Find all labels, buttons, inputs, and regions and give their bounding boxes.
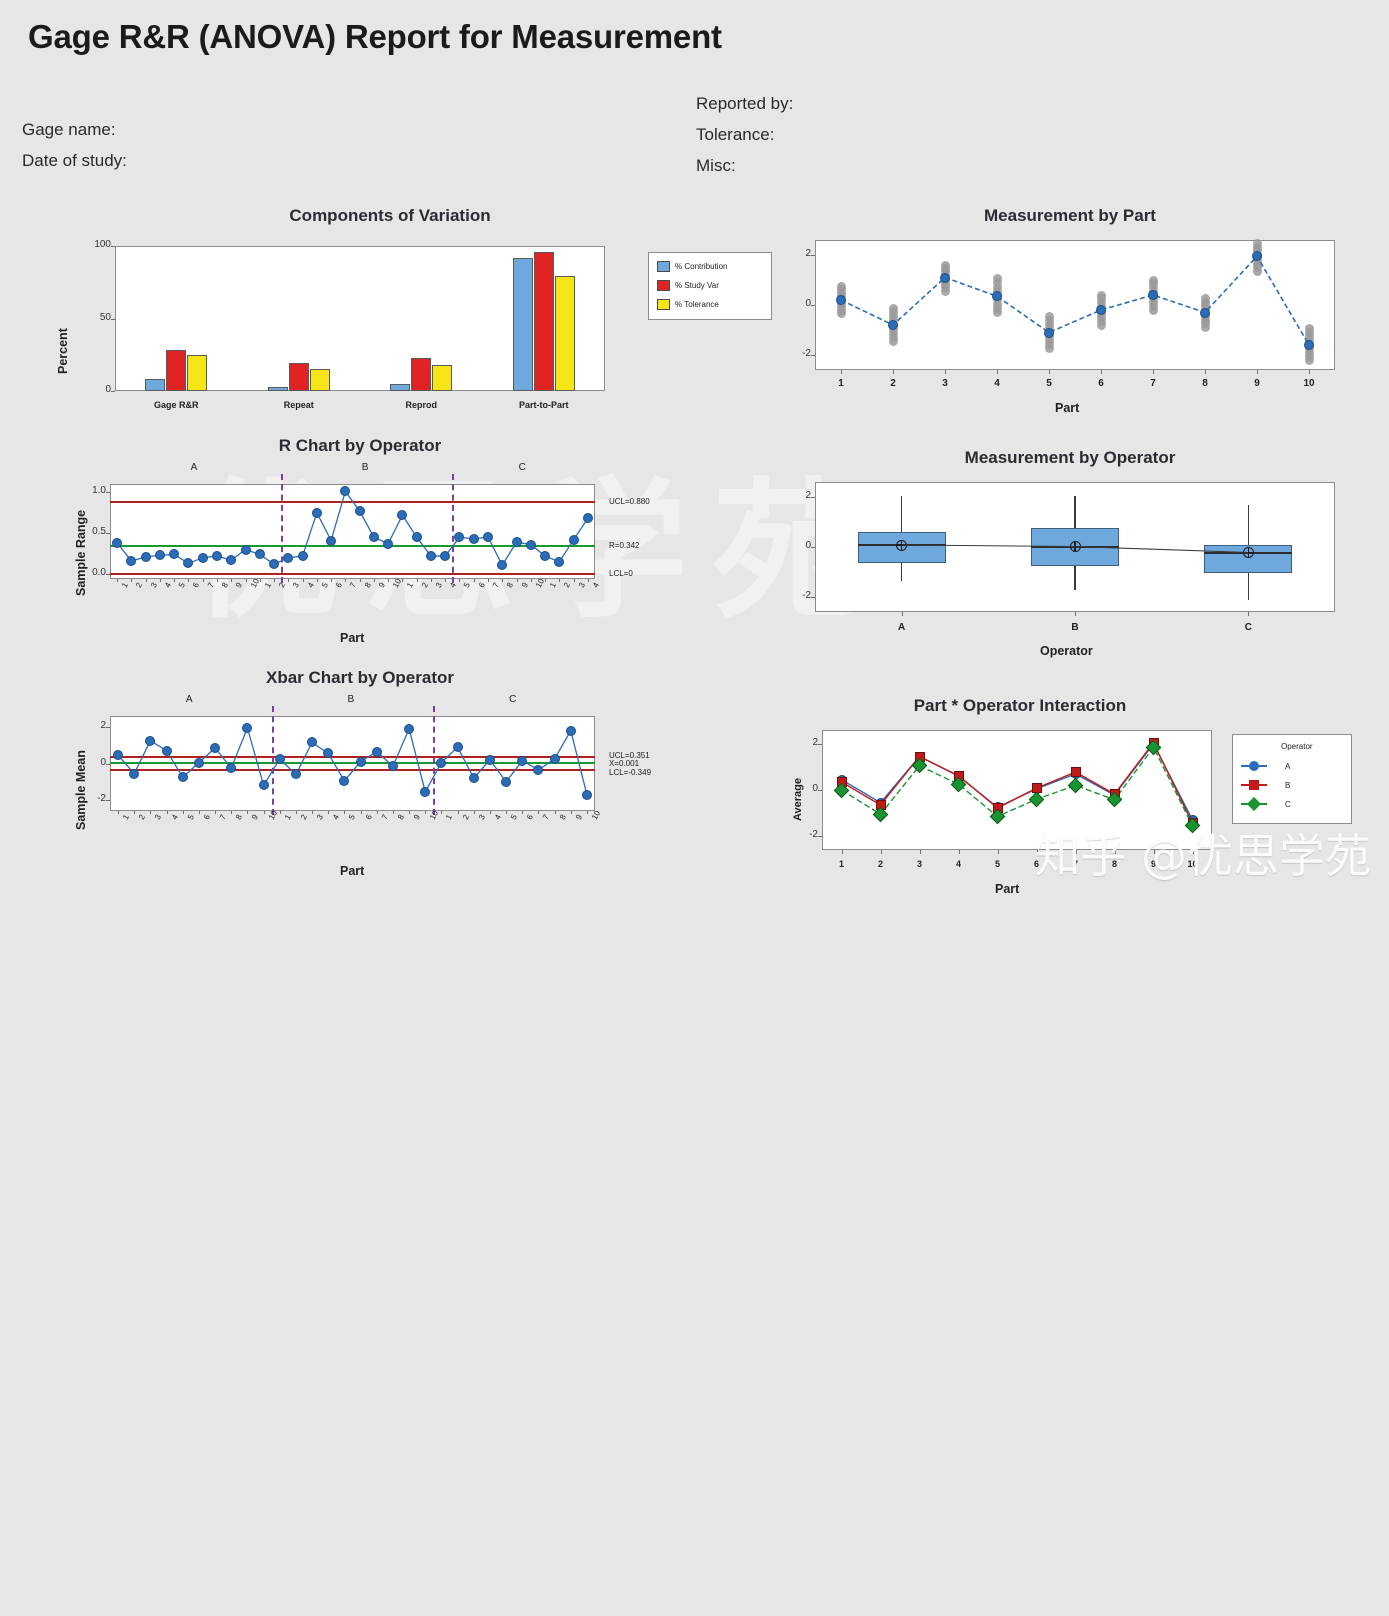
reported-by-label: Reported by:	[696, 88, 793, 119]
mean-point	[940, 273, 950, 283]
gage-name-label: Gage name:	[22, 114, 127, 145]
sample-mean-point	[550, 754, 560, 764]
x-tick-mark	[328, 811, 329, 814]
sample-mean-point	[259, 780, 269, 790]
x-axis-label: Part	[995, 882, 1019, 896]
bar-studyvar-0	[166, 350, 186, 391]
legend-item-0: % Contribution	[657, 261, 727, 272]
x-tick-label: 6	[1022, 859, 1052, 869]
x-tick-label: 4	[944, 859, 974, 869]
sample-mean-point	[162, 746, 172, 756]
x-tick-mark	[571, 811, 572, 814]
x-tick-mark	[317, 579, 318, 582]
x-tick-mark	[588, 579, 589, 582]
gage-rr-report-page: Gage R&R (ANOVA) Report for Measurement …	[0, 0, 1389, 920]
sample-mean-point	[485, 755, 495, 765]
x-tick-mark	[1115, 850, 1116, 854]
x-axis-label: Part	[340, 631, 364, 645]
bar-tolerance-1	[310, 369, 330, 391]
x-tick-mark	[117, 579, 118, 582]
x-tick-mark	[881, 850, 882, 854]
sample-range-point	[312, 508, 322, 518]
x-tick-mark	[344, 811, 345, 814]
ucl-annotation: UCL=0.880	[609, 497, 650, 507]
legend-label: % Contribution	[675, 262, 727, 271]
x-tick-mark	[131, 579, 132, 582]
bar-tolerance-2	[432, 365, 452, 391]
x-tick-mark	[231, 579, 232, 582]
x-tick-mark	[183, 811, 184, 814]
x-tick-label: 3	[905, 859, 935, 869]
sample-range-point	[469, 534, 479, 544]
legend-item-2: % Tolerance	[657, 299, 719, 310]
x-tick-label: 5	[983, 859, 1013, 869]
category-label: Repeat	[239, 400, 359, 410]
sample-range-point	[426, 551, 436, 561]
sample-range-point	[569, 535, 579, 545]
x-tick-mark	[150, 811, 151, 814]
tolerance-label: Tolerance:	[696, 119, 793, 150]
x-tick-mark	[998, 850, 999, 854]
legend-part-operator-interaction: OperatorABC	[1232, 734, 1352, 824]
x-tick-mark	[274, 579, 275, 582]
x-tick-mark	[959, 850, 960, 854]
legend-marker-C	[1247, 797, 1261, 811]
legend-swatch	[657, 299, 670, 310]
x-tick-mark	[445, 579, 446, 582]
mean-point	[1148, 290, 1158, 300]
x-tick-mark	[388, 579, 389, 582]
sample-range-point	[198, 553, 208, 563]
sample-range-point	[298, 551, 308, 561]
x-tick-mark	[260, 579, 261, 582]
y-tick-mark	[111, 319, 115, 320]
sample-mean-point	[178, 772, 188, 782]
x-tick-mark	[188, 579, 189, 582]
sample-mean-point	[469, 773, 479, 783]
x-tick-mark	[409, 811, 410, 814]
x-tick-label: 2	[866, 859, 896, 869]
x-tick-mark	[312, 811, 313, 814]
x-tick-mark	[474, 811, 475, 814]
legend-swatch	[657, 261, 670, 272]
sample-range-point	[412, 532, 422, 542]
x-tick-mark	[425, 811, 426, 814]
x-tick-mark	[842, 850, 843, 854]
sample-mean-point	[436, 758, 446, 768]
x-tick-mark	[280, 811, 281, 814]
y-tick-label: 0	[85, 384, 111, 395]
sample-mean-point	[404, 724, 414, 734]
category-label: Part-to-Part	[484, 400, 604, 410]
header-right-block: Reported by: Tolerance: Misc:	[696, 88, 793, 181]
plot-lines	[780, 696, 1389, 1616]
x-tick-mark	[490, 811, 491, 814]
legend-title: Operator	[1281, 742, 1313, 751]
x-tick-mark	[264, 811, 265, 814]
sample-mean-point	[129, 769, 139, 779]
x-tick-mark	[167, 811, 168, 814]
sample-mean-point	[356, 757, 366, 767]
chart-title: Components of Variation	[40, 206, 740, 226]
x-tick-mark	[488, 579, 489, 582]
sample-range-point	[212, 551, 222, 561]
x-tick-mark	[303, 579, 304, 582]
x-tick-mark	[296, 811, 297, 814]
x-tick-mark	[247, 811, 248, 814]
y-tick-mark	[111, 391, 115, 392]
chart-r-chart-by-operator: R Chart by Operator Sample Range 1.00.50…	[60, 436, 760, 651]
sample-mean-point	[517, 756, 527, 766]
marker-square-B	[1071, 767, 1081, 777]
bar-contribution-3	[513, 258, 533, 391]
x-tick-mark	[118, 811, 119, 814]
x-tick-mark	[1154, 850, 1155, 854]
legend-label-A: A	[1285, 762, 1290, 771]
x-tick-mark	[361, 811, 362, 814]
page-title: Gage R&R (ANOVA) Report for Measurement	[28, 18, 722, 56]
chart-measurement-by-operator: Measurement by Operator 20-2ABC Operator	[780, 448, 1360, 663]
lcl-annotation: LCL=-0.349	[609, 768, 651, 778]
sample-mean-point	[372, 747, 382, 757]
mean-point	[888, 320, 898, 330]
x-tick-mark	[377, 811, 378, 814]
x-axis-label: Part	[1055, 401, 1079, 415]
x-tick-mark	[402, 579, 403, 582]
mean-point	[836, 295, 846, 305]
legend-swatch	[657, 280, 670, 291]
x-tick-label: 7	[1061, 859, 1091, 869]
misc-label: Misc:	[696, 150, 793, 181]
x-axis-label: Operator	[1040, 644, 1093, 658]
x-tick-label: 10	[1178, 859, 1208, 869]
date-of-study-label: Date of study:	[22, 145, 127, 176]
sample-range-point	[326, 536, 336, 546]
x-tick-mark	[203, 579, 204, 582]
sample-mean-point	[210, 743, 220, 753]
header-left-block: Gage name: Date of study:	[22, 114, 127, 176]
x-tick-mark	[146, 579, 147, 582]
bar-contribution-1	[268, 387, 288, 391]
legend-marker-B	[1249, 780, 1259, 790]
x-tick-mark	[555, 811, 556, 814]
x-tick-mark	[531, 579, 532, 582]
mean-point	[1044, 328, 1054, 338]
x-axis-label: Part	[340, 864, 364, 878]
x-tick-mark	[288, 579, 289, 582]
legend-label: % Tolerance	[675, 300, 719, 309]
x-tick-mark	[431, 579, 432, 582]
y-axis-label: Percent	[56, 328, 70, 374]
x-tick-mark	[417, 579, 418, 582]
sample-range-point	[383, 539, 393, 549]
chart-components-of-variation: Components of Variation Percent 050100Ga…	[40, 206, 740, 406]
x-tick-mark	[231, 811, 232, 814]
sample-mean-point	[275, 754, 285, 764]
category-label: Gage R&R	[116, 400, 236, 410]
x-tick-mark	[517, 579, 518, 582]
x-tick-mark	[217, 579, 218, 582]
mean-point	[1304, 340, 1314, 350]
legend-components-of-variation: % Contribution% Study Var% Tolerance	[648, 252, 772, 320]
x-tick-mark	[1076, 850, 1077, 854]
sample-mean-point	[582, 790, 592, 800]
bar-studyvar-1	[289, 363, 309, 391]
x-tick-label: 8	[1100, 859, 1130, 869]
center-line-annotation: R=0.342	[609, 541, 639, 551]
x-tick-mark	[459, 579, 460, 582]
x-tick-mark	[199, 811, 200, 814]
x-tick-label: 1	[827, 859, 857, 869]
x-tick-mark	[160, 579, 161, 582]
mean-point	[1200, 308, 1210, 318]
x-tick-mark	[174, 579, 175, 582]
bar-studyvar-3	[534, 252, 554, 391]
legend-item-1: % Study Var	[657, 280, 719, 291]
sample-range-point	[141, 552, 151, 562]
x-tick-mark	[458, 811, 459, 814]
x-tick-mark	[345, 579, 346, 582]
x-tick-mark	[574, 579, 575, 582]
legend-label-C: C	[1285, 800, 1291, 809]
sample-mean-point	[501, 777, 511, 787]
legend-marker-A	[1249, 761, 1259, 771]
x-tick-mark	[506, 811, 507, 814]
bar-studyvar-2	[411, 358, 431, 391]
x-tick-mark	[474, 579, 475, 582]
x-tick-mark	[587, 811, 588, 814]
x-tick-mark	[215, 811, 216, 814]
x-tick-mark	[545, 579, 546, 582]
sample-mean-point	[566, 726, 576, 736]
bar-contribution-0	[145, 379, 165, 391]
bar-contribution-2	[390, 384, 410, 391]
x-tick-mark	[374, 579, 375, 582]
sample-range-point	[355, 506, 365, 516]
x-tick-mark	[522, 811, 523, 814]
y-tick-label: 50	[85, 312, 111, 323]
x-tick-mark	[134, 811, 135, 814]
x-tick-mark	[331, 579, 332, 582]
sample-range-point	[512, 537, 522, 547]
y-tick-label: 100	[85, 239, 111, 250]
x-tick-mark	[1037, 850, 1038, 854]
legend-label: % Study Var	[675, 281, 719, 290]
x-tick-mark	[1193, 850, 1194, 854]
bar-tolerance-0	[187, 355, 207, 391]
x-tick-mark	[538, 811, 539, 814]
bar-tolerance-3	[555, 276, 575, 391]
chart-measurement-by-part: Measurement by Part 20-212345678910 Part	[780, 206, 1360, 421]
sample-range-point	[241, 545, 251, 555]
lcl-annotation: LCL=0	[609, 569, 633, 579]
category-label: Reprod	[361, 400, 481, 410]
chart-part-operator-interaction: Part * Operator Interaction Average 20-2…	[780, 696, 1380, 911]
x-tick-mark	[441, 811, 442, 814]
x-tick-mark	[502, 579, 503, 582]
mean-point	[1096, 305, 1106, 315]
sample-range-point	[283, 553, 293, 563]
sample-mean-point	[453, 742, 463, 752]
x-tick-mark	[360, 579, 361, 582]
x-tick-label: 9	[1139, 859, 1169, 869]
sample-range-point	[526, 540, 536, 550]
x-tick-mark	[393, 811, 394, 814]
y-tick-mark	[111, 246, 115, 247]
x-tick-mark	[920, 850, 921, 854]
legend-label-B: B	[1285, 781, 1290, 790]
x-tick-mark	[559, 579, 560, 582]
x-tick-mark	[246, 579, 247, 582]
sample-mean-point	[194, 758, 204, 768]
chart-xbar-chart-by-operator: Xbar Chart by Operator Sample Mean 20-2A…	[60, 668, 760, 893]
